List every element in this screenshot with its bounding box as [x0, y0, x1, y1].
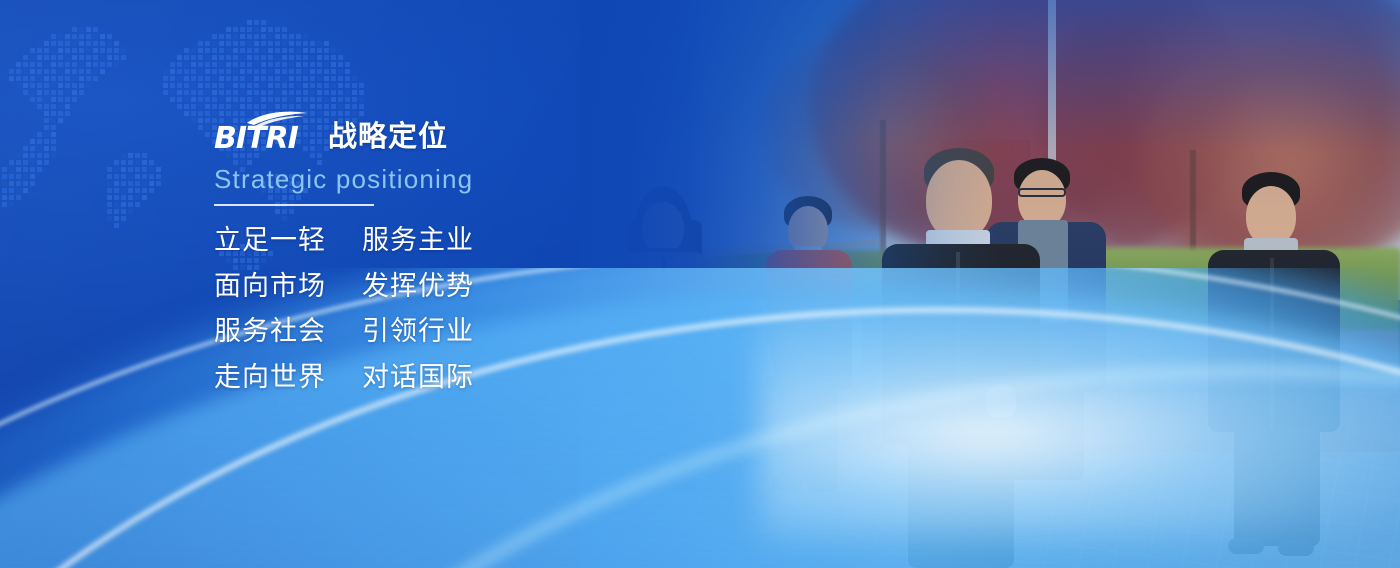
slogan-left: 立足一轻 — [214, 224, 362, 259]
slogan-left: 服务社会 — [214, 315, 362, 350]
title-divider — [214, 204, 374, 206]
slogan-right: 发挥优势 — [362, 270, 474, 305]
photo-person-right-dark-jacket — [1200, 172, 1350, 562]
slogan-row: 立足一轻 服务主业 — [214, 224, 544, 259]
brand-lockup: BITRI 战略定位 — [214, 108, 544, 154]
subtitle-en: Strategic positioning — [214, 166, 544, 192]
slogan-right: 对话国际 — [362, 361, 474, 396]
photo-person-woman-grey-jacket — [600, 186, 730, 516]
photo-person-orange-jacket — [750, 196, 870, 496]
photo-person-leader — [868, 148, 1054, 568]
slogan-left: 面向市场 — [214, 270, 362, 305]
slogan-row: 面向市场 发挥优势 — [214, 270, 544, 305]
svg-text:BITRI: BITRI — [214, 121, 299, 154]
bitri-wordmark: BITRI — [214, 110, 314, 154]
banner-copy: BITRI 战略定位 Strategic positioning 立足一轻 服务… — [214, 108, 544, 395]
strategic-positioning-banner: BITRI 战略定位 Strategic positioning 立足一轻 服务… — [0, 0, 1400, 568]
bitri-logo: BITRI — [214, 110, 314, 154]
banner-photo — [580, 0, 1400, 568]
slogan-right: 引领行业 — [362, 315, 474, 350]
slogan-row: 走向世界 对话国际 — [214, 361, 544, 396]
slogan-list: 立足一轻 服务主业 面向市场 发挥优势 服务社会 引领行业 走向世界 对话国际 — [214, 224, 544, 395]
slogan-right: 服务主业 — [362, 224, 474, 259]
slogan-row: 服务社会 引领行业 — [214, 315, 544, 350]
title-cn: 战略定位 — [328, 122, 448, 154]
slogan-left: 走向世界 — [214, 361, 362, 396]
